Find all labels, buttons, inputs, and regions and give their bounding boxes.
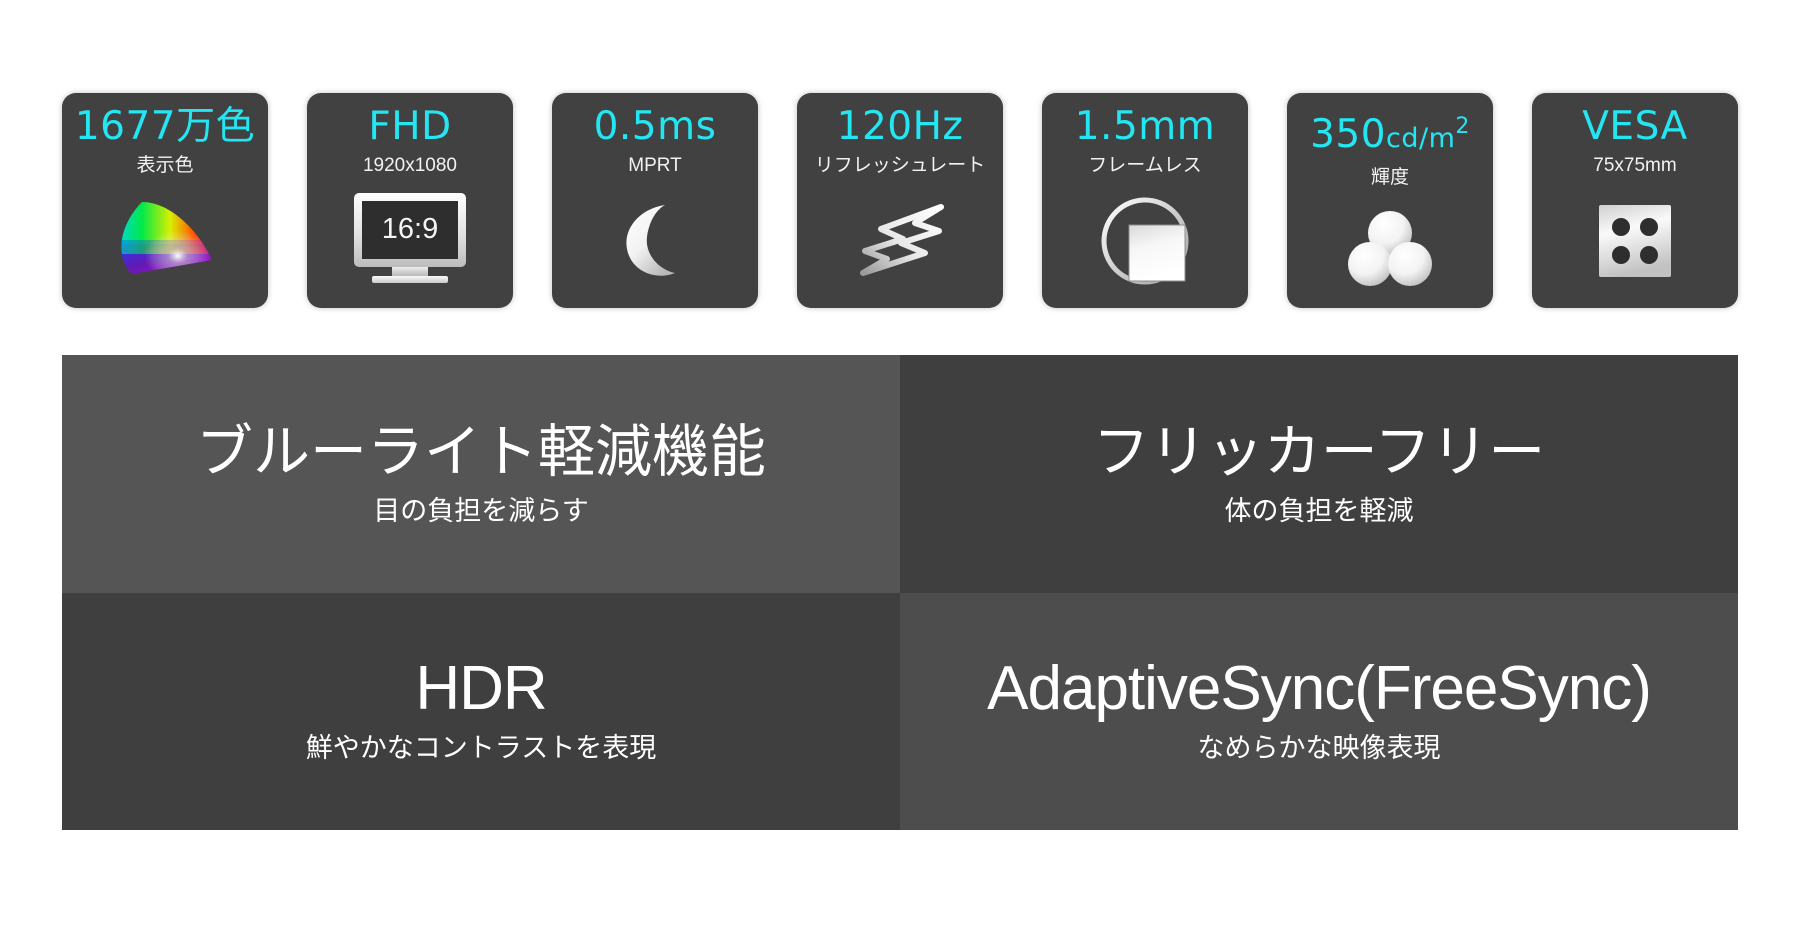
feature-subtitle-hdr: 鮮やかなコントラストを表現: [306, 729, 656, 767]
spec-card-color-depth: 1677万色 表示色: [62, 93, 268, 308]
spec-value-brightness-unit: cd/m: [1386, 123, 1455, 154]
spec-value-refresh-rate: 120Hz: [837, 105, 964, 149]
spec-card-brightness: 350cd/m2 輝度: [1287, 93, 1493, 308]
color-gamut-icon: [62, 179, 268, 308]
feature-title-adaptive-sync: AdaptiveSync(FreeSync): [987, 655, 1651, 723]
feature-title-hdr: HDR: [415, 655, 546, 723]
feature-title-flicker-free: フリッカーフリー: [1093, 418, 1546, 486]
spec-value-vesa: VESA: [1582, 105, 1687, 149]
spec-value-color-depth: 1677万色: [75, 105, 255, 149]
vesa-mount-plate-icon: [1532, 179, 1738, 308]
feature-panel-hdr: HDR 鮮やかなコントラストを表現: [62, 593, 900, 831]
monitor-spec-infographic: 1677万色 表示色: [0, 0, 1800, 941]
spec-label-bezel: フレームレス: [1088, 153, 1201, 179]
spec-label-response-time: MPRT: [628, 153, 681, 179]
spec-value-brightness: 350cd/m2: [1310, 105, 1470, 161]
spec-value-bezel: 1.5mm: [1075, 105, 1216, 149]
lightning-bolt-icon: [797, 179, 1003, 308]
frameless-circle-icon: [1042, 179, 1248, 308]
monitor-aspect-ratio-text: 16:9: [382, 213, 438, 246]
brightness-spheres-icon: [1287, 191, 1493, 308]
feature-panel-blue-light: ブルーライト軽減機能 目の負担を減らす: [62, 355, 900, 593]
feature-subtitle-blue-light: 目の負担を減らす: [373, 492, 588, 530]
crescent-moon-icon: [552, 179, 758, 308]
spec-card-strip: 1677万色 表示色: [62, 93, 1738, 308]
feature-panel-adaptive-sync: AdaptiveSync(FreeSync) なめらかな映像表現: [900, 593, 1738, 831]
spec-label-vesa: 75x75mm: [1593, 153, 1676, 179]
spec-value-brightness-superscript: 2: [1455, 114, 1470, 139]
spec-label-brightness: 輝度: [1371, 165, 1409, 191]
spec-value-resolution: FHD: [368, 105, 451, 149]
spec-label-color-depth: 表示色: [136, 153, 193, 179]
spec-card-bezel: 1.5mm フレームレス: [1042, 93, 1248, 308]
spec-value-response-time: 0.5ms: [594, 105, 717, 149]
spec-card-refresh-rate: 120Hz リフレッシュレート: [797, 93, 1003, 308]
feature-panel-flicker-free: フリッカーフリー 体の負担を軽減: [900, 355, 1738, 593]
spec-card-resolution: FHD 1920x1080 16:9: [307, 93, 513, 308]
spec-label-refresh-rate: リフレッシュレート: [815, 153, 986, 179]
feature-panel-grid: ブルーライト軽減機能 目の負担を減らす フリッカーフリー 体の負担を軽減 HDR…: [62, 355, 1738, 830]
spec-value-brightness-number: 350: [1310, 112, 1386, 157]
feature-subtitle-flicker-free: 体の負担を軽減: [1225, 492, 1414, 530]
monitor-16-9-icon: 16:9: [307, 179, 513, 308]
spec-card-vesa: VESA 75x75mm: [1532, 93, 1738, 308]
feature-title-blue-light: ブルーライト軽減機能: [196, 418, 766, 486]
spec-label-resolution: 1920x1080: [363, 153, 457, 179]
feature-subtitle-adaptive-sync: なめらかな映像表現: [1198, 729, 1441, 767]
spec-card-response-time: 0.5ms MPRT: [552, 93, 758, 308]
